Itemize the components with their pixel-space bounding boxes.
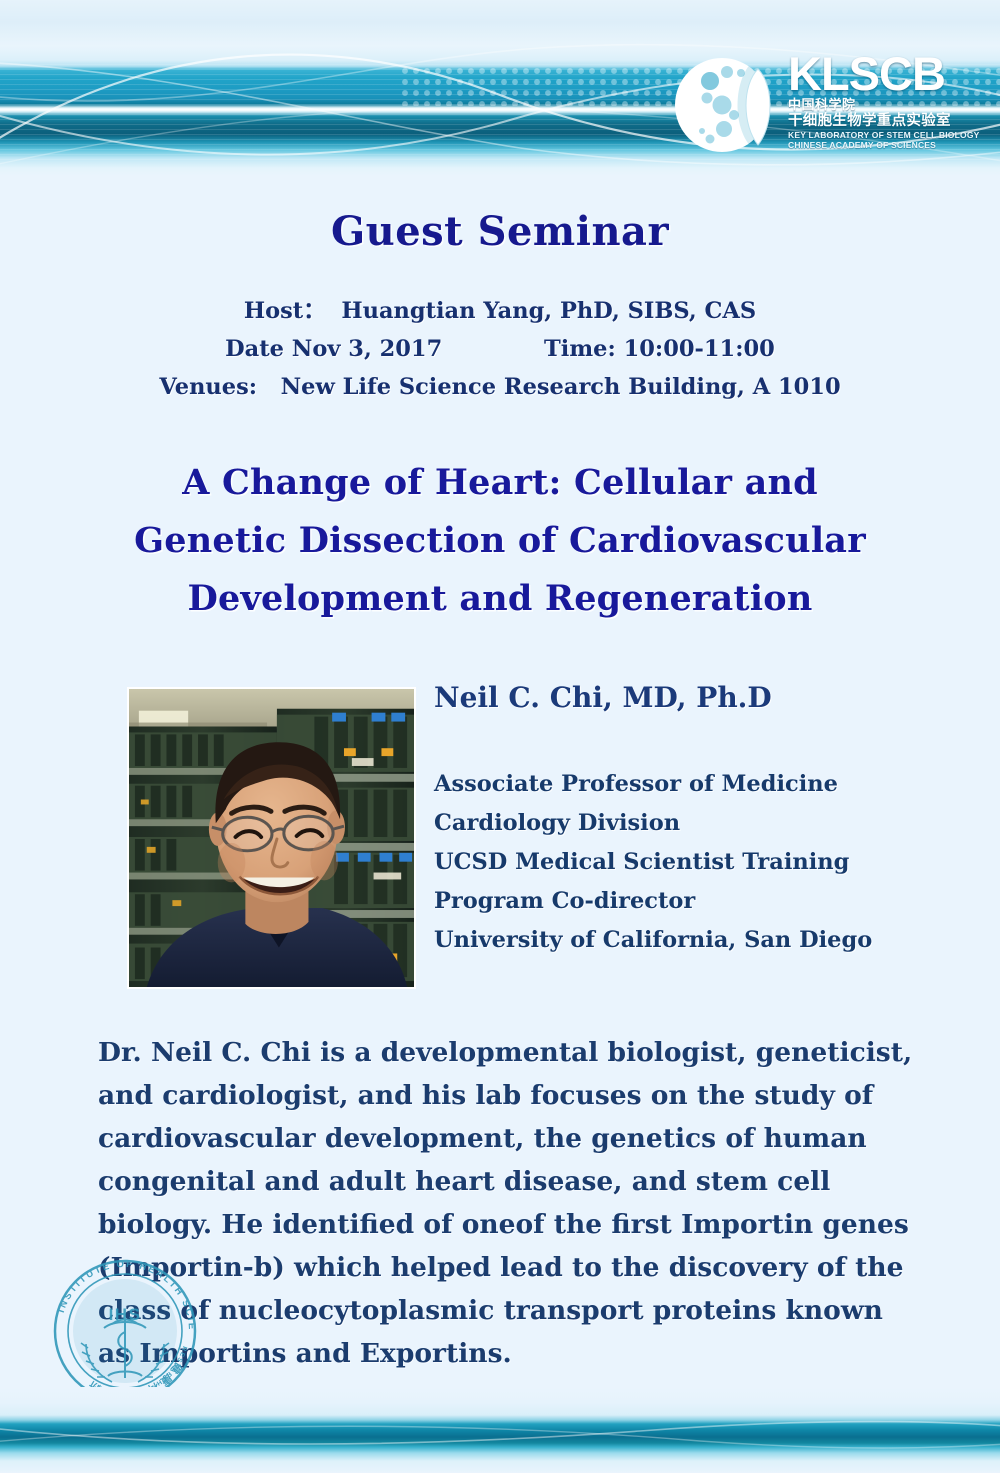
host-line: Host： Huangtian Yang, PhD, SIBS, CAS xyxy=(0,292,1000,330)
footer-wave-curves-decoration xyxy=(0,1387,1000,1473)
bio-line: class of nucleocytoplasmic transport pro… xyxy=(98,1289,918,1332)
bio-line: Dr. Neil C. Chi is a developmental biolo… xyxy=(98,1031,918,1074)
affiliation-line: UCSD Medical Scientist Training xyxy=(434,843,954,882)
seminar-poster: KLSCB 中国科学院 干细胞生物学重点实验室 KEY LABORATORY O… xyxy=(0,0,1000,1473)
bio-line: cardiovascular development, the genetics… xyxy=(98,1117,918,1160)
speaker-info: Neil C. Chi, MD, Ph.D Associate Professo… xyxy=(434,681,954,960)
klscb-logo: KLSCB 中国科学院 干细胞生物学重点实验室 KEY LABORATORY O… xyxy=(672,50,992,160)
affiliation-line: University of California, San Diego xyxy=(434,921,954,960)
bio-line: and cardiologist, and his lab focuses on… xyxy=(98,1074,918,1117)
page-title: Guest Seminar xyxy=(0,208,1000,255)
affiliation-line: Program Co-director xyxy=(434,882,954,921)
klscb-cell-logo-icon xyxy=(672,53,780,157)
poster-content: Guest Seminar Host： Huangtian Yang, PhD,… xyxy=(0,176,1000,1387)
talk-title-line: Development and Regeneration xyxy=(60,570,940,628)
logo-english-line2: CHINESE ACADEMY OF SCIENCES xyxy=(788,140,994,150)
footer-banner xyxy=(0,1387,1000,1473)
bio-line: biology. He identified of oneof the firs… xyxy=(98,1203,918,1246)
date-time-line: Date Nov 3, 2017 Time: 10:00-11:00 xyxy=(0,330,1000,368)
bio-line: as Importins and Exportins. xyxy=(98,1332,918,1375)
event-details: Host： Huangtian Yang, PhD, SIBS, CAS Dat… xyxy=(0,292,1000,406)
talk-title-line: A Change of Heart: Cellular and xyxy=(60,454,940,512)
bio-line: (Importin-b) which helped lead to the di… xyxy=(98,1246,918,1289)
affiliation-line: Associate Professor of Medicine xyxy=(434,765,954,804)
speaker-name: Neil C. Chi, MD, Ph.D xyxy=(434,681,954,715)
speaker-bio: Dr. Neil C. Chi is a developmental biolo… xyxy=(98,1031,918,1375)
logo-chinese-line1: 中国科学院 xyxy=(788,98,994,113)
speaker-affiliations: Associate Professor of Medicine Cardiolo… xyxy=(434,765,954,960)
logo-acronym: KLSCB xyxy=(788,50,994,98)
logo-english-line1: KEY LABORATORY OF STEM CELL BIOLOGY xyxy=(788,130,994,140)
header-banner: KLSCB 中国科学院 干细胞生物学重点实验室 KEY LABORATORY O… xyxy=(0,0,1000,176)
bio-line: congenital and adult heart disease, and … xyxy=(98,1160,918,1203)
talk-title-line: Genetic Dissection of Cardiovascular xyxy=(60,512,940,570)
affiliation-line: Cardiology Division xyxy=(434,804,954,843)
venue-line: Venues: New Life Science Research Buildi… xyxy=(0,368,1000,406)
speaker-photo xyxy=(127,687,416,989)
talk-title: A Change of Heart: Cellular and Genetic … xyxy=(60,454,940,628)
speaker-portrait-image xyxy=(129,689,414,987)
logo-chinese-line2: 干细胞生物学重点实验室 xyxy=(788,113,994,130)
